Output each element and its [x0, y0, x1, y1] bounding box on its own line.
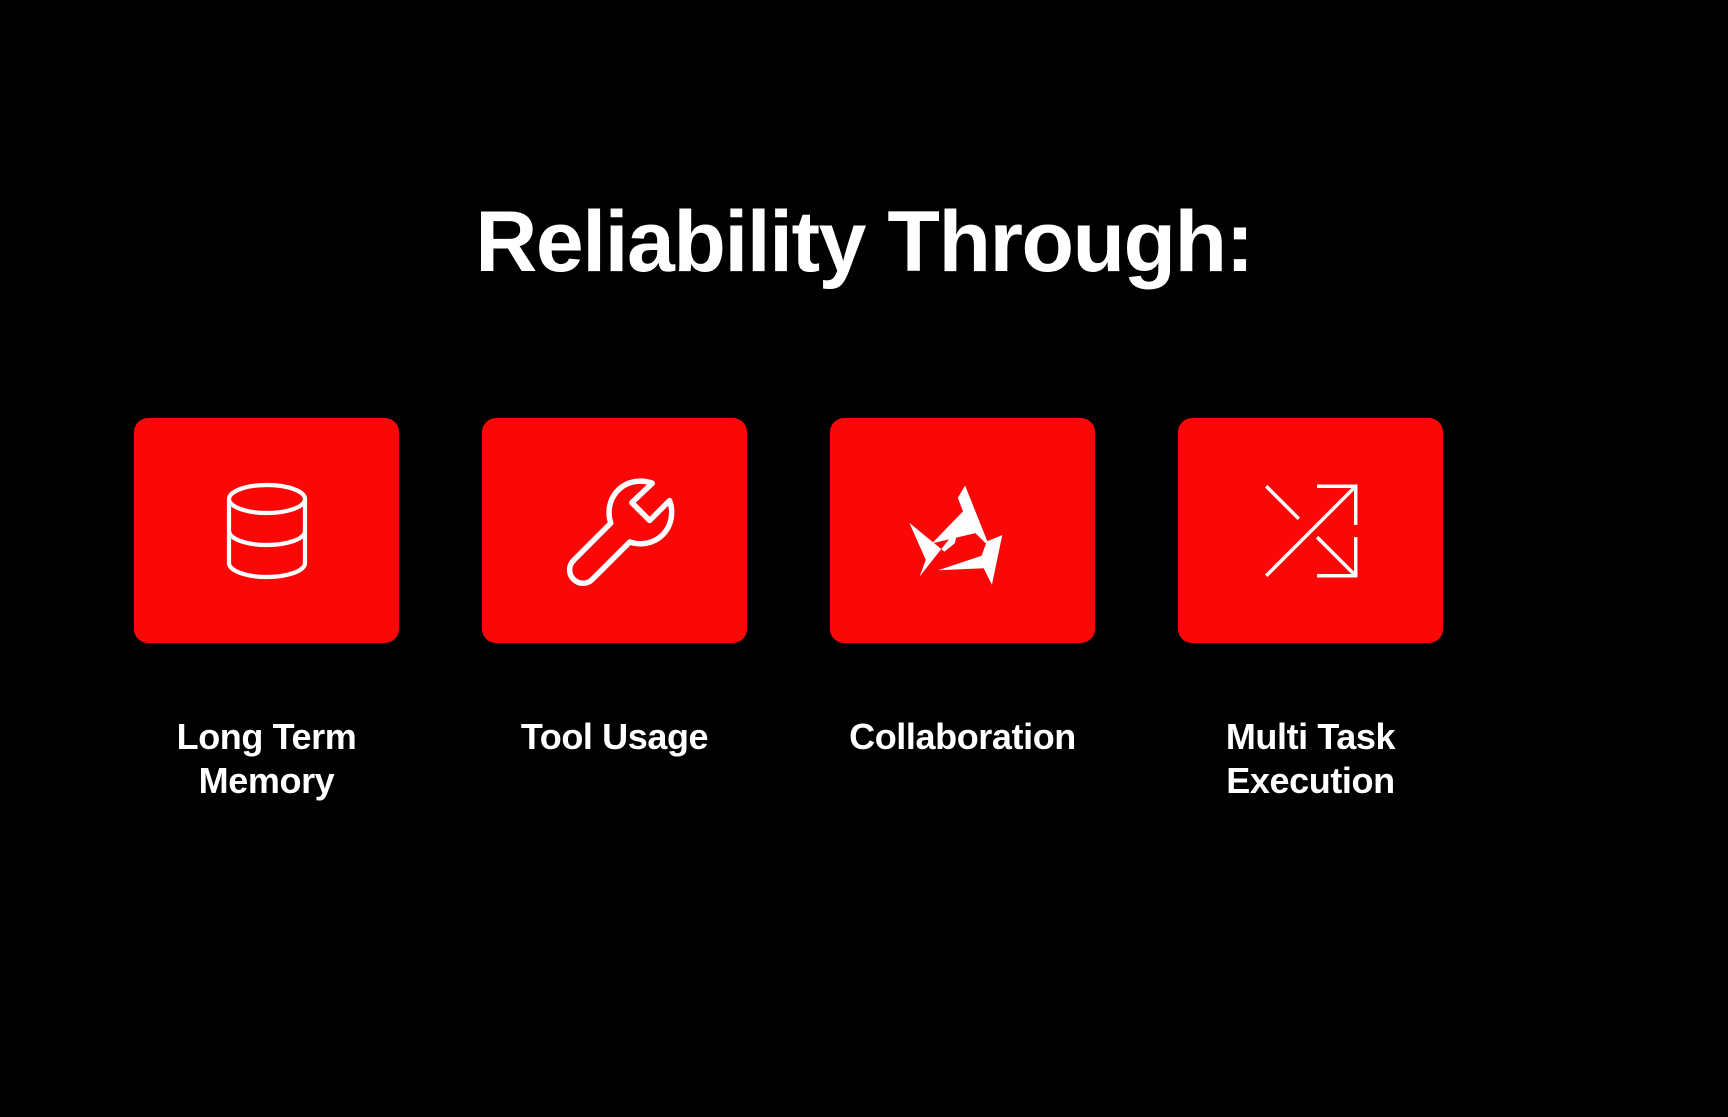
feature-card-collaboration[interactable]: Collaboration: [830, 418, 1095, 759]
wrench-icon: [552, 468, 678, 594]
feature-card-tool-usage[interactable]: Tool Usage: [482, 418, 747, 759]
feature-card-label: Collaboration: [849, 715, 1076, 759]
recycle-arrows-icon: [901, 469, 1025, 593]
feature-card-list: Long Term Memory Tool Usage: [134, 418, 1594, 803]
page-title: Reliability Through:: [0, 196, 1728, 289]
icon-tile-multi-task-execution[interactable]: [1178, 418, 1443, 643]
icon-tile-collaboration[interactable]: [830, 418, 1095, 643]
icon-tile-tool-usage[interactable]: [482, 418, 747, 643]
feature-card-label: Long Term Memory: [177, 715, 357, 803]
shuffle-arrows-icon: [1250, 470, 1372, 592]
feature-card-label: Multi Task Execution: [1226, 715, 1395, 803]
icon-tile-long-term-memory[interactable]: [134, 418, 399, 643]
database-icon: [207, 471, 327, 591]
feature-card-long-term-memory[interactable]: Long Term Memory: [134, 418, 399, 803]
feature-card-label: Tool Usage: [521, 715, 708, 759]
feature-card-multi-task-execution[interactable]: Multi Task Execution: [1178, 418, 1443, 803]
slide-root: Reliability Through: Long Term Memory: [0, 0, 1728, 1117]
